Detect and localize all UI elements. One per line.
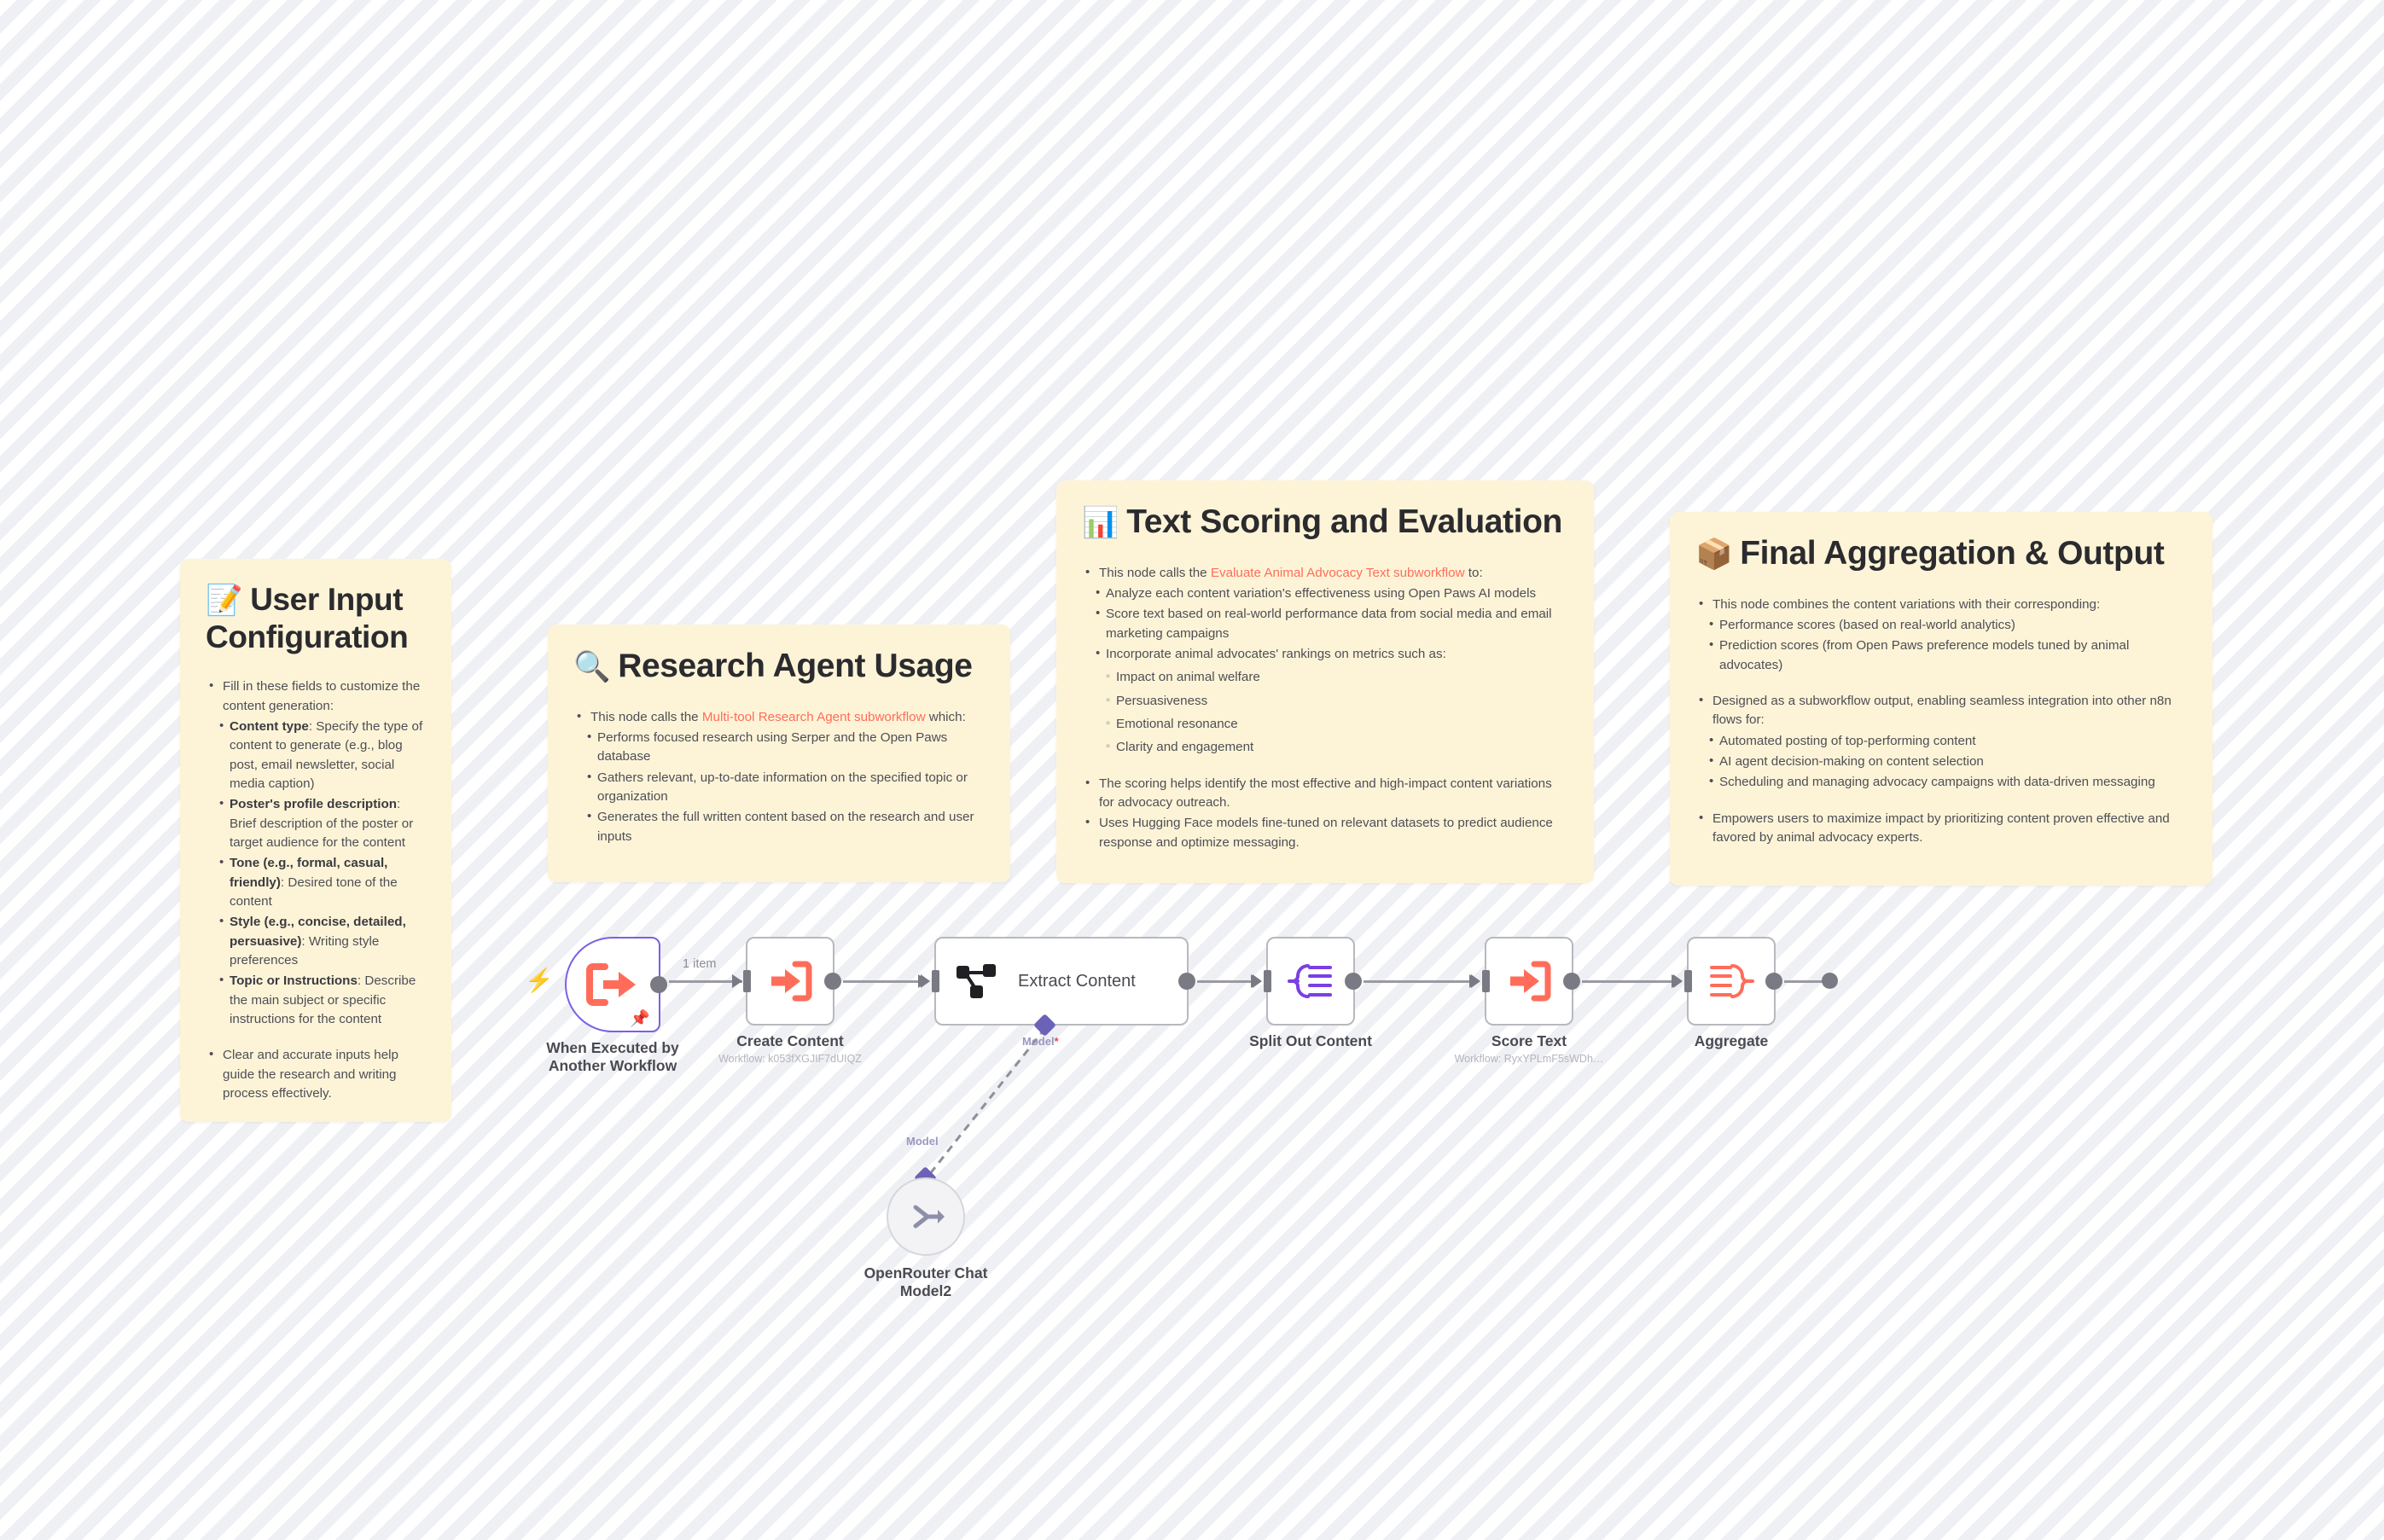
list-item: Emotional resonance [1082,715,1568,734]
list-item: Scheduling and managing advocacy campaig… [1695,773,2187,792]
sticky-note-title: 📝User Input Configuration [206,581,426,655]
sticky-note-user-input[interactable]: 📝User Input Configuration Fill in these … [180,559,451,1122]
execute-workflow-trigger-icon [586,962,639,1008]
sticky-note-body: This node calls the Evaluate Animal Advo… [1082,564,1568,852]
edge-openrouter-to-extract-content[interactable] [904,1024,1058,1186]
node-label: Score Text [1491,1032,1567,1050]
node-subtitle-workflow-id: Workflow: RyxYPLmF5sWDh… [1455,1053,1604,1065]
sticky-note-title: 🔍Research Agent Usage [573,647,985,686]
list-item: AI agent decision-making on content sele… [1695,753,2187,771]
edge-create-content-to-extract[interactable] [843,980,928,983]
edge-output-endpoint[interactable] [1822,973,1838,989]
list-item: Prediction scores (from Open Paws prefer… [1695,636,2187,675]
node-title-inline: Extract Content [1018,972,1136,991]
output-port[interactable] [1178,973,1195,990]
spacer [1082,759,1568,773]
information-extractor-icon [955,961,997,1002]
input-port[interactable] [1482,970,1490,992]
sticky-note-title: 📊Text Scoring and Evaluation [1082,503,1568,542]
input-port[interactable] [932,970,939,992]
list-item: Empowers users to maximize impact by pri… [1695,810,2187,848]
list-item: Impact on animal welfare [1082,668,1568,687]
sticky-note-final-aggregation[interactable]: 📦Final Aggregation & Output This node co… [1670,512,2212,886]
list-item: The scoring helps identify the most effe… [1082,775,1568,813]
list-item: Fill in these fields to customize the co… [206,677,426,716]
sticky-note-title: 📦Final Aggregation & Output [1695,534,2187,573]
input-port[interactable] [1264,970,1271,992]
input-port[interactable] [743,970,751,992]
list-item: Gathers relevant, up-to-date information… [573,769,985,807]
ai-model-port-label: Model* [1022,1035,1059,1048]
list-item: Generates the full written content based… [573,808,985,846]
output-port[interactable] [650,976,667,993]
list-item: Poster's profile description: Brief desc… [206,795,426,852]
memo-icon: 📝 [206,584,242,617]
list-item: Topic or Instructions: Describe the main… [206,972,426,1029]
list-item: Designed as a subworkflow output, enabli… [1695,692,2187,730]
sticky-note-text-scoring[interactable]: 📊Text Scoring and Evaluation This node c… [1056,480,1594,883]
list-item: Score text based on real-world performan… [1082,605,1568,643]
list-item: Performs focused research using Serper a… [573,729,985,767]
output-port[interactable] [1765,973,1782,990]
trigger-bolt-icon: ⚡ [525,969,554,992]
list-item: Style (e.g., concise, detailed, persuasi… [206,913,426,970]
llm-port-label: Model [906,1135,939,1148]
list-item: Analyze each content variation's effecti… [1082,584,1568,603]
package-icon: 📦 [1695,538,1732,571]
subworkflow-link[interactable]: Multi-tool Research Agent subworkflow [702,710,926,724]
aggregate-icon [1708,961,1754,1002]
list-item: Clarity and engagement [1082,738,1568,757]
bar-chart-icon: 📊 [1082,506,1119,539]
list-item: Automated posting of top-performing cont… [1695,732,2187,751]
node-openrouter-chat-model[interactable]: OpenRouter ChatModel2 [887,1177,965,1256]
spacer [206,1031,426,1044]
output-port[interactable] [1563,973,1580,990]
node-label: Split Out Content [1249,1032,1372,1050]
output-port[interactable] [824,973,841,990]
node-label: OpenRouter ChatModel2 [864,1264,988,1301]
node-aggregate[interactable]: Aggregate [1687,937,1776,1026]
list-item: This node calls the Evaluate Animal Advo… [1082,564,1568,583]
edge-label-item-count: 1 item [683,957,717,971]
node-create-content[interactable]: Create Content Workflow: k053fXGJIF7dUIQ… [746,937,834,1026]
subworkflow-link[interactable]: Evaluate Animal Advocacy Text subworkflo… [1211,566,1465,580]
list-item: This node combines the content variation… [1695,596,2187,614]
execute-workflow-icon [766,960,814,1002]
list-item: Incorporate animal advocates' rankings o… [1082,645,1568,664]
list-item: Performance scores (based on real-world … [1695,616,2187,635]
split-out-icon [1288,961,1334,1002]
node-split-out-content[interactable]: Split Out Content [1266,937,1355,1026]
sticky-note-research-agent[interactable]: 🔍Research Agent Usage This node calls th… [548,625,1010,882]
node-label: When Executed byAnother Workflow [546,1039,679,1076]
execute-workflow-icon [1505,960,1553,1002]
pin-icon: 📌 [630,1011,650,1027]
sticky-note-body: Fill in these fields to customize the co… [206,677,426,1103]
node-extract-content[interactable]: Extract Content [934,937,1189,1026]
output-port[interactable] [1345,973,1362,990]
node-label: Create Content [736,1032,843,1050]
edge-score-text-to-aggregate[interactable] [1582,980,1681,983]
sticky-note-body: This node calls the Multi-tool Research … [573,708,985,846]
dashed-connector-path [926,1028,1045,1179]
list-item: Uses Hugging Face models fine-tuned on r… [1082,814,1568,852]
list-item: Tone (e.g., formal, casual, friendly): D… [206,854,426,911]
input-port[interactable] [1684,970,1692,992]
list-item: Clear and accurate inputs help guide the… [206,1046,426,1103]
spacer [1695,677,2187,690]
workflow-canvas[interactable]: 📝User Input Configuration Fill in these … [0,0,2384,1540]
openrouter-icon [905,1198,946,1235]
spacer [1695,794,2187,808]
sticky-note-body: This node combines the content variation… [1695,596,2187,848]
node-subtitle-workflow-id: Workflow: k053fXGJIF7dUIQZ [718,1053,862,1065]
edge-split-out-to-score-text[interactable] [1364,980,1479,983]
node-when-executed-by-another-workflow[interactable]: 📌 When Executed byAnother Workflow [565,937,660,1032]
list-item: Persuasiveness [1082,692,1568,711]
list-item: Content type: Specify the type of conten… [206,718,426,793]
node-score-text[interactable]: Score Text Workflow: RyxYPLmF5sWDh… [1485,937,1573,1026]
magnifier-icon: 🔍 [573,650,610,683]
node-label: Aggregate [1695,1032,1769,1050]
list-item: This node calls the Multi-tool Research … [573,708,985,727]
